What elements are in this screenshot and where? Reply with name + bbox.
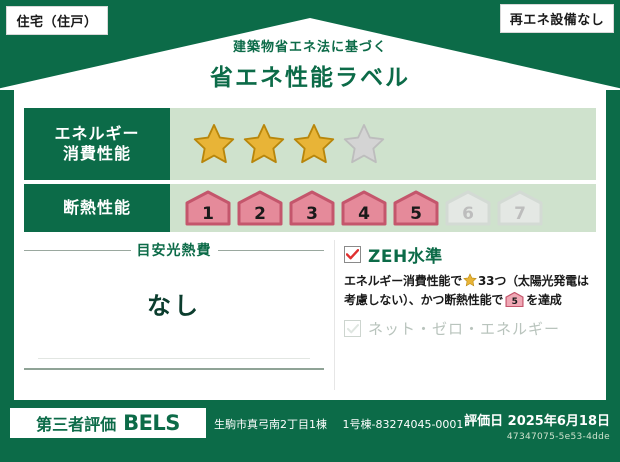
evaluation-info: 評価日 2025年6月18日 47347075-5e53-4dde xyxy=(464,410,610,442)
insulation-grade-chip-active: 4 xyxy=(340,190,388,226)
star-filled-icon xyxy=(192,122,236,166)
net-zero-energy-label: ネット・ゼロ・エネルギー xyxy=(368,318,560,339)
rule-left xyxy=(24,250,131,251)
energy-title-line2: 消費性能 xyxy=(63,144,131,164)
insulation-grade-number: 7 xyxy=(496,206,544,223)
page-title: 建築物省エネ法に基づく 省エネ性能ラベル xyxy=(0,36,620,92)
star-empty-icon xyxy=(342,122,386,166)
utility-cost-panel: 目安光熱費 なし xyxy=(24,240,324,390)
inline-house-grade-icon: 5 xyxy=(505,292,524,307)
bels-logo-text: BELS xyxy=(123,411,180,435)
cost-divider-thin xyxy=(38,358,310,359)
cost-divider-bottom xyxy=(24,368,324,370)
utility-cost-header: 目安光熱費 xyxy=(24,240,324,260)
insulation-grade-scale: 1234567 xyxy=(184,190,544,226)
energy-performance-row: エネルギー 消費性能 xyxy=(24,108,596,180)
evaluation-date-label: 評価日 xyxy=(464,414,503,429)
insulation-grade-number: 6 xyxy=(444,206,492,223)
property-address-line: 生駒市真弓南2丁目1棟 1号棟-83274045-0001 xyxy=(214,416,463,432)
star-rating xyxy=(192,122,386,166)
evaluation-date-line: 評価日 2025年6月18日 xyxy=(464,410,610,429)
insulation-performance-body: 1234567 xyxy=(170,184,596,232)
zeh-standard-row: ZEH水準 xyxy=(344,242,596,267)
insulation-title-label: 断熱性能 xyxy=(63,198,131,218)
utility-cost-value: なし xyxy=(24,286,324,321)
net-zero-checkbox-unchecked xyxy=(344,320,361,337)
title-main: 省エネ性能ラベル xyxy=(0,58,620,92)
insulation-grade-number: 3 xyxy=(288,206,336,223)
inline-house-grade-number: 5 xyxy=(505,298,524,307)
insulation-grade-chip-inactive: 7 xyxy=(496,190,544,226)
property-building-number: 1号棟-83274045-0001 xyxy=(343,418,464,431)
insulation-grade-chip-active: 3 xyxy=(288,190,336,226)
zeh-description: エネルギー消費性能で33つ（太陽光発電は考慮しない）、かつ断熱性能で5を達成 xyxy=(344,272,596,309)
evaluation-id: 47347075-5e53-4dde xyxy=(464,432,610,442)
insulation-performance-row: 断熱性能 1234567 xyxy=(24,184,596,232)
star-filled-icon xyxy=(242,122,286,166)
dwelling-type-tag: 住宅（住戸） xyxy=(6,6,108,35)
star-filled-icon xyxy=(292,122,336,166)
insulation-performance-title: 断熱性能 xyxy=(24,184,170,232)
zeh-panel: ZEH水準 エネルギー消費性能で33つ（太陽光発電は考慮しない）、かつ断熱性能で… xyxy=(344,242,596,339)
property-address: 生駒市真弓南2丁目1棟 xyxy=(214,418,327,431)
insulation-grade-chip-active: 2 xyxy=(236,190,284,226)
insulation-grade-chip-inactive: 6 xyxy=(444,190,492,226)
renewable-equipment-tag: 再エネ設備なし xyxy=(500,4,614,33)
insulation-grade-number: 2 xyxy=(236,206,284,223)
zeh-checkbox-checked xyxy=(344,246,361,263)
insulation-grade-chip-active: 1 xyxy=(184,190,232,226)
zeh-standard-label: ZEH水準 xyxy=(368,242,443,267)
energy-title-line1: エネルギー xyxy=(54,124,139,144)
inline-star-icon xyxy=(463,273,477,287)
bels-badge: 第三者評価 BELS xyxy=(10,408,206,438)
insulation-grade-number: 5 xyxy=(392,206,440,223)
rule-right xyxy=(218,250,325,251)
energy-performance-title: エネルギー 消費性能 xyxy=(24,108,170,180)
insulation-grade-number: 4 xyxy=(340,206,388,223)
evaluation-date-value: 2025年6月18日 xyxy=(508,414,610,429)
energy-performance-body xyxy=(170,108,596,180)
renewable-equipment-label: 再エネ設備なし xyxy=(510,9,605,28)
zeh-desc-star-count: 3 xyxy=(478,274,486,288)
label-footer: 第三者評価 BELS 生駒市真弓南2丁目1棟 1号棟-83274045-0001… xyxy=(0,400,620,462)
bels-japanese-label: 第三者評価 xyxy=(36,411,116,435)
panel-vertical-divider xyxy=(334,240,335,390)
title-subtitle: 建築物省エネ法に基づく xyxy=(0,36,620,55)
dwelling-type-label: 住宅（住戸） xyxy=(16,11,97,30)
utility-cost-title: 目安光熱費 xyxy=(137,240,212,260)
net-zero-energy-row: ネット・ゼロ・エネルギー xyxy=(344,318,596,339)
zeh-desc-part3: を達成 xyxy=(526,293,561,307)
insulation-grade-chip-active: 5 xyxy=(392,190,440,226)
bels-energy-label: 住宅（住戸） 再エネ設備なし 建築物省エネ法に基づく 省エネ性能ラベル エネルギ… xyxy=(0,0,620,462)
insulation-grade-number: 1 xyxy=(184,206,232,223)
zeh-desc-part1: エネルギー消費性能で xyxy=(344,274,462,288)
label-card: エネルギー 消費性能 断熱性能 1234567 目安光熱費 なし xyxy=(14,100,606,400)
